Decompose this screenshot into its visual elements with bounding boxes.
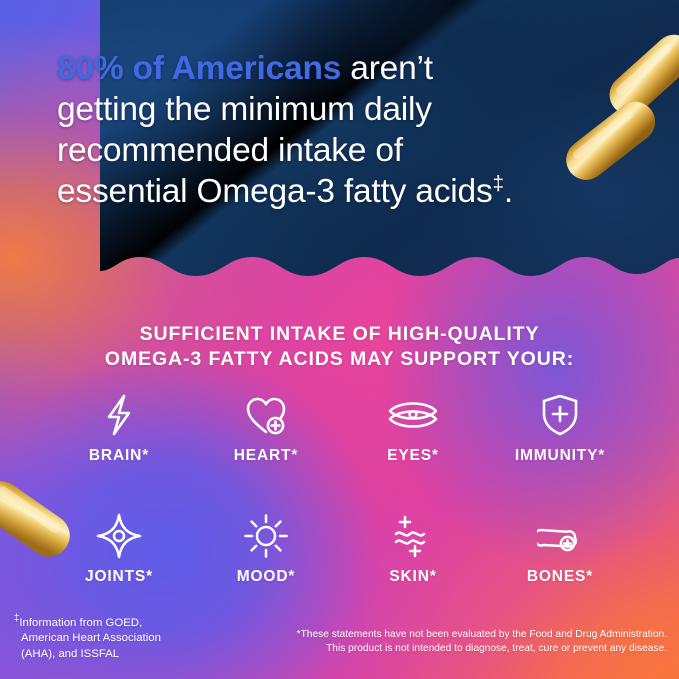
benefit-item-skin: SKIN* (344, 513, 482, 586)
disclaimer-line1: *These statements have not been evaluate… (237, 628, 667, 642)
infographic-canvas: 80% of Americans aren’t getting the mini… (0, 0, 679, 679)
sun-icon (243, 513, 289, 559)
sparkle-star-icon (96, 513, 142, 559)
benefit-item-bones: BONES* (491, 513, 629, 586)
fda-disclaimer: *These statements have not been evaluate… (237, 628, 667, 656)
benefit-item-joints: JOINTS* (50, 513, 188, 586)
benefit-item-heart: HEART* (197, 392, 335, 465)
headline-accent: 80% of Americans (57, 50, 341, 87)
eye-icon (387, 392, 439, 438)
subheading-line1: SUFFICIENT INTAKE OF HIGH-QUALITY (0, 322, 679, 347)
benefit-label: EYES* (387, 447, 439, 465)
support-subheading: SUFFICIENT INTAKE OF HIGH-QUALITY OMEGA-… (0, 322, 679, 372)
subheading-line2: OMEGA-3 FATTY ACIDS MAY SUPPORT YOUR: (0, 347, 679, 372)
benefit-label: SKIN* (389, 568, 436, 586)
benefit-item-eyes: EYES* (344, 392, 482, 465)
headline-footnote-marker: ‡ (493, 172, 504, 195)
benefit-item-mood: MOOD* (197, 513, 335, 586)
benefit-item-brain: BRAIN* (50, 392, 188, 465)
headline-line4: essential Omega-3 fatty acids (57, 173, 493, 210)
benefit-item-immunity: IMMUNITY* (491, 392, 629, 465)
footnote-left-line1: Information from GOED, (19, 617, 142, 629)
bone-plus-icon (537, 513, 583, 559)
benefit-label: BRAIN* (89, 447, 149, 465)
benefit-label: MOOD* (237, 568, 296, 586)
hero-headline: 80% of Americans aren’t getting the mini… (57, 48, 617, 212)
heart-plus-icon (244, 392, 288, 438)
benefits-row-1: BRAIN* HEART* (50, 392, 629, 465)
shield-plus-icon (540, 392, 580, 438)
benefits-row-2: JOINTS* MOOD* (50, 513, 629, 586)
footnote-left-line3: (AHA), and ISSFAL (14, 647, 229, 662)
headline-line3: recommended intake of (57, 132, 403, 169)
benefits-grid: BRAIN* HEART* (50, 392, 629, 586)
benefit-label: BONES* (527, 568, 593, 586)
headline-line2: getting the minimum daily (57, 91, 432, 128)
footnote-sources: ‡Information from GOED, American Heart A… (14, 616, 229, 662)
headline-line4-period: . (504, 173, 513, 210)
benefit-label: HEART* (234, 447, 299, 465)
lightning-bolt-icon (100, 392, 138, 438)
headline-line1-rest: aren’t (341, 50, 433, 87)
benefit-label: JOINTS* (85, 568, 153, 586)
benefit-label: IMMUNITY* (515, 447, 605, 465)
footnote-left-line2: American Heart Association (14, 631, 229, 646)
skin-waves-sparkle-icon (391, 513, 435, 559)
disclaimer-line2: This product is not intended to diagnose… (237, 642, 667, 656)
